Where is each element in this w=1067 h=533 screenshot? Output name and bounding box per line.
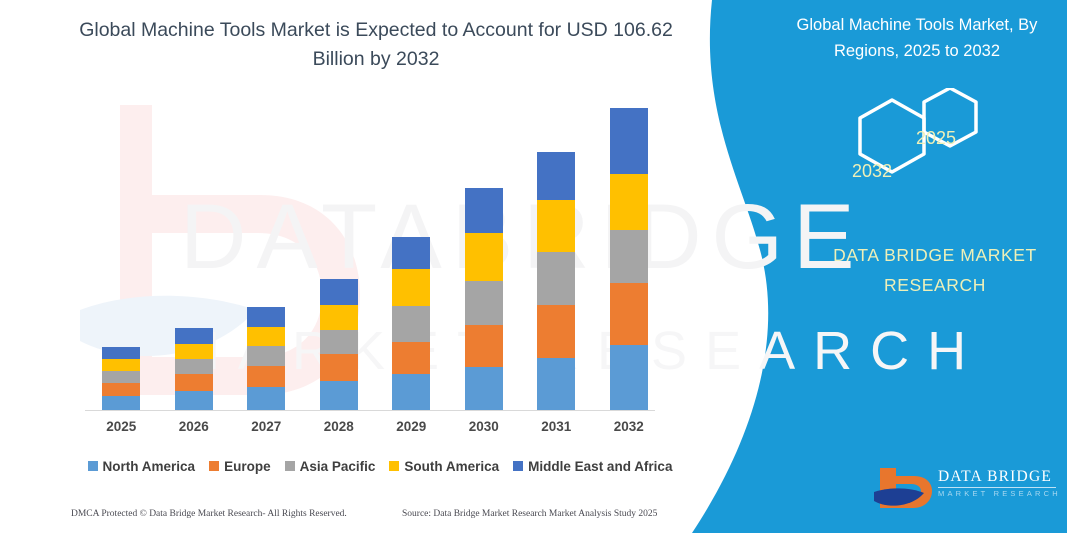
- brand-line-1: DATA BRIDGE MARKET: [833, 245, 1037, 265]
- bar-segment: [465, 233, 503, 281]
- bar-segment: [465, 188, 503, 232]
- dbmr-logo-subtext: MARKET RESEARCH: [938, 489, 1061, 498]
- bar-segment: [247, 307, 285, 327]
- chart-legend: North AmericaEuropeAsia PacificSouth Ame…: [85, 456, 675, 476]
- bar-segment: [320, 305, 358, 329]
- x-axis-label-2027: 2027: [231, 419, 301, 434]
- dbmr-logo-divider: [938, 487, 1056, 488]
- legend-swatch-icon: [88, 461, 98, 471]
- bar-segment: [537, 358, 575, 411]
- legend-label: Asia Pacific: [300, 459, 376, 474]
- brand-name: DATA BRIDGE MARKET RESEARCH: [790, 240, 1067, 300]
- dbmr-logo-text: DATA BRIDGE: [938, 468, 1052, 486]
- legend-item-south-america[interactable]: South America: [389, 459, 499, 474]
- bar-segment: [175, 328, 213, 344]
- bar-segment: [320, 354, 358, 380]
- bar-segment: [392, 237, 430, 270]
- x-axis-label-2031: 2031: [521, 419, 591, 434]
- bar-column-2032: [610, 108, 648, 411]
- bar-segment: [320, 279, 358, 306]
- bar-segment: [320, 330, 358, 355]
- bar-segment: [537, 252, 575, 305]
- bar-segment: [175, 344, 213, 359]
- bar-segment: [465, 281, 503, 325]
- bar-segment: [247, 346, 285, 366]
- bar-segment: [175, 359, 213, 375]
- legend-item-north-america[interactable]: North America: [88, 459, 196, 474]
- x-axis-label-2030: 2030: [449, 419, 519, 434]
- bar-segment: [102, 383, 140, 396]
- bar-column-2030: [465, 188, 503, 411]
- bar-segment: [247, 327, 285, 346]
- legend-item-europe[interactable]: Europe: [209, 459, 271, 474]
- bar-segment: [610, 230, 648, 283]
- bar-column-2026: [175, 328, 213, 411]
- bar-column-2031: [537, 152, 575, 411]
- x-axis-labels: 20252026202720282029203020312032: [85, 419, 665, 441]
- infographic-root: DATABRIDGE MARKET RESEARCH Global Machin…: [0, 0, 1067, 533]
- chart-title: Global Machine Tools Market is Expected …: [62, 16, 690, 74]
- x-axis-line: [85, 410, 655, 411]
- bar-column-2027: [247, 307, 285, 411]
- legend-label: Middle East and Africa: [528, 459, 672, 474]
- bar-segment: [102, 347, 140, 359]
- x-axis-label-2032: 2032: [594, 419, 664, 434]
- bar-column-2025: [102, 347, 140, 411]
- bar-segment: [610, 108, 648, 174]
- x-axis-label-2028: 2028: [304, 419, 374, 434]
- bar-segment: [465, 325, 503, 367]
- bar-segment: [247, 387, 285, 411]
- bar-column-2029: [392, 237, 430, 411]
- legend-item-middle-east-and-africa[interactable]: Middle East and Africa: [513, 459, 672, 474]
- bar-segment: [102, 371, 140, 383]
- legend-swatch-icon: [209, 461, 219, 471]
- bar-segment: [102, 359, 140, 371]
- bar-segment: [392, 306, 430, 341]
- footer-source: Source: Data Bridge Market Research Mark…: [402, 509, 657, 519]
- hexagon-label-2025: 2025: [916, 128, 956, 149]
- bar-segment: [392, 374, 430, 411]
- legend-swatch-icon: [513, 461, 523, 471]
- bar-segment: [175, 391, 213, 411]
- bar-segment: [610, 283, 648, 345]
- bar-segment: [465, 367, 503, 411]
- hexagon-label-2032: 2032: [852, 161, 892, 182]
- legend-label: North America: [103, 459, 196, 474]
- bar-segment: [175, 374, 213, 391]
- legend-swatch-icon: [285, 461, 295, 471]
- x-axis-label-2029: 2029: [376, 419, 446, 434]
- panel-title: Global Machine Tools Market, By Regions,…: [772, 12, 1062, 64]
- bar-column-2028: [320, 279, 358, 411]
- chart-plot-area: [85, 100, 665, 411]
- bar-segment: [247, 366, 285, 387]
- legend-item-asia-pacific[interactable]: Asia Pacific: [285, 459, 376, 474]
- legend-label: Europe: [224, 459, 271, 474]
- x-axis-label-2026: 2026: [159, 419, 229, 434]
- brand-line-2: RESEARCH: [884, 275, 986, 295]
- bar-segment: [102, 396, 140, 411]
- bar-segment: [610, 345, 648, 411]
- bar-segment: [320, 381, 358, 411]
- legend-swatch-icon: [389, 461, 399, 471]
- legend-label: South America: [404, 459, 499, 474]
- x-axis-label-2025: 2025: [86, 419, 156, 434]
- bar-segment: [537, 152, 575, 199]
- bar-segment: [392, 269, 430, 306]
- bar-segment: [537, 200, 575, 253]
- bar-segment: [392, 342, 430, 375]
- bar-segment: [537, 305, 575, 358]
- bar-segment: [610, 174, 648, 229]
- footer-copyright: DMCA Protected © Data Bridge Market Rese…: [71, 509, 347, 519]
